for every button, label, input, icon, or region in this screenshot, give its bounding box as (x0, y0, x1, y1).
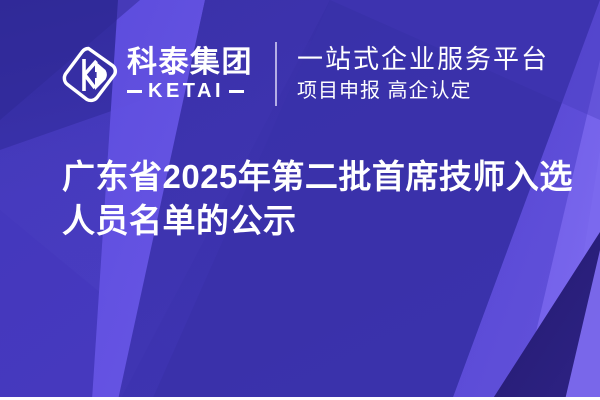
banner-header: 科泰集团 KETAI 一站式企业服务平台 项目申报 高企认定 (62, 38, 549, 110)
brand-rule-left (127, 90, 142, 93)
ketai-diamond-kp-monogram-icon (62, 45, 118, 103)
brand-rule-right (229, 90, 244, 93)
announcement-title: 广东省2025年第二批首席技师入选 人员名单的公示 (62, 155, 562, 243)
tagline-block: 一站式企业服务平台 项目申报 高企认定 (297, 39, 549, 109)
brand-name-cn: 科泰集团 (127, 47, 253, 79)
ketai-logo[interactable]: 科泰集团 KETAI (62, 38, 253, 110)
tagline-secondary: 项目申报 高企认定 (297, 78, 549, 105)
logo-wordmark: 科泰集团 KETAI (127, 47, 253, 102)
announcement-banner: 科泰集团 KETAI 一站式企业服务平台 项目申报 高企认定 广东省2025年第… (0, 0, 600, 400)
brand-name-en-row: KETAI (127, 81, 253, 102)
title-line-1: 广东省2025年第二批首席技师入选 (62, 155, 562, 199)
tagline-primary: 一站式企业服务平台 (297, 43, 549, 76)
brand-name-en: KETAI (148, 81, 224, 102)
title-line-2: 人员名单的公示 (62, 199, 562, 243)
header-divider (275, 42, 277, 106)
